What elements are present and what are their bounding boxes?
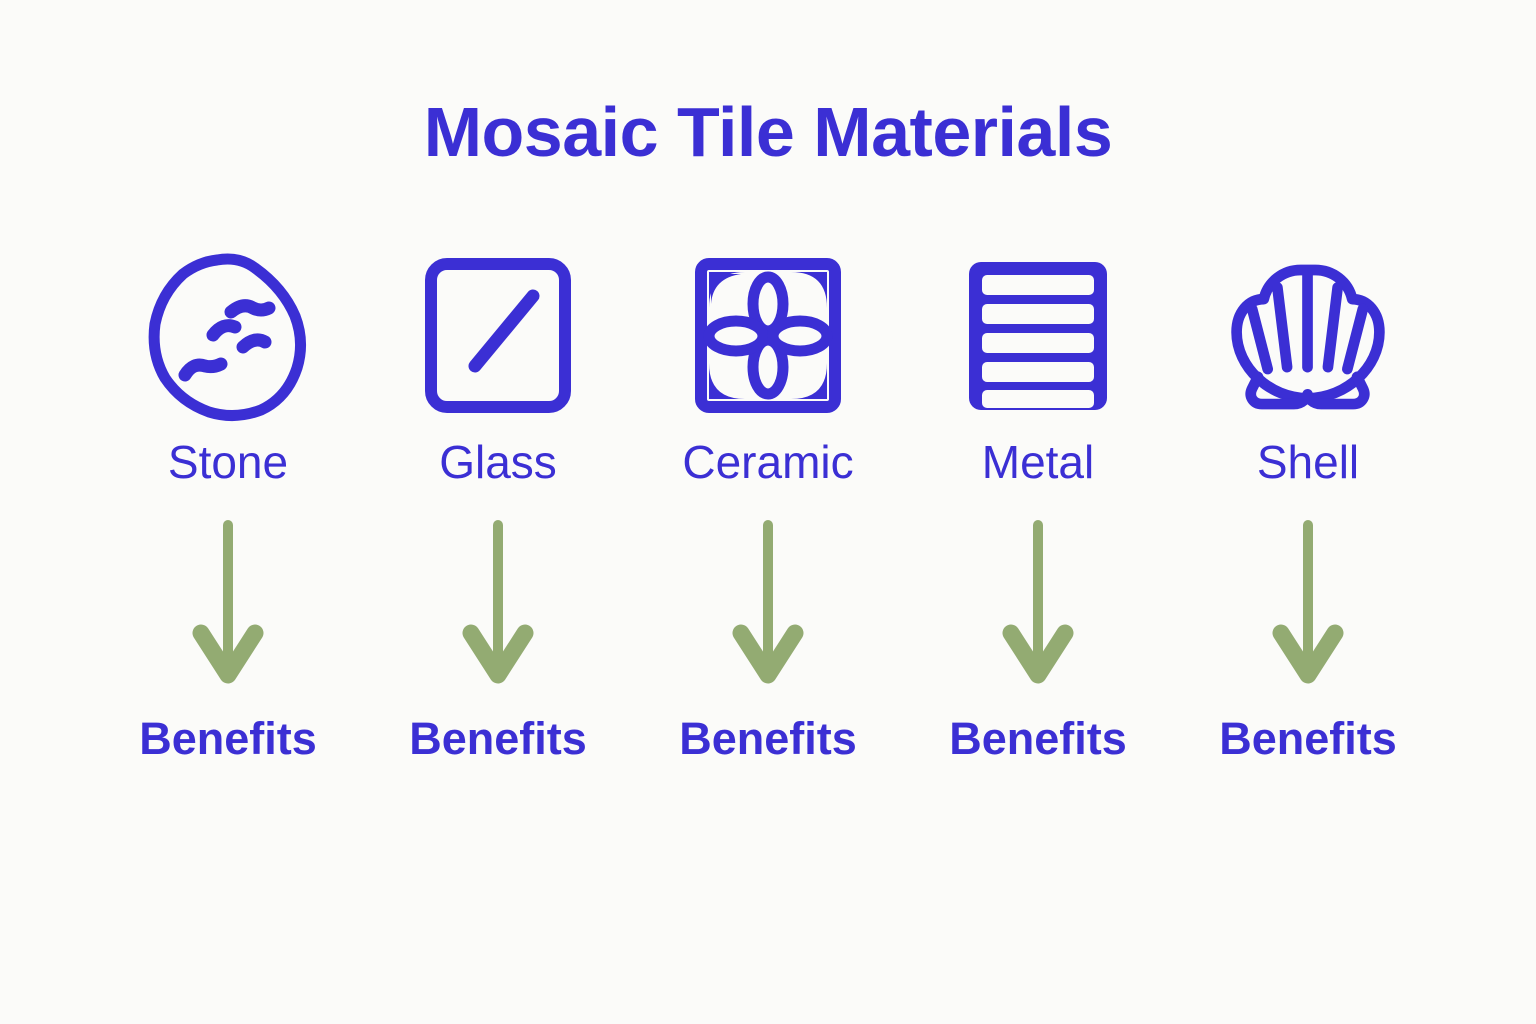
- down-arrow-metal: [998, 515, 1078, 690]
- material-label-glass: Glass: [439, 439, 557, 485]
- benefits-label-glass: Benefits: [409, 716, 587, 761]
- material-column-metal: Metal Benefits: [903, 250, 1173, 761]
- benefits-label-stone: Benefits: [139, 716, 317, 761]
- material-column-glass: Glass Benefits: [363, 250, 633, 761]
- down-arrow-ceramic: [728, 515, 808, 690]
- material-label-ceramic: Ceramic: [682, 439, 853, 485]
- benefits-label-ceramic: Benefits: [679, 716, 857, 761]
- metal-icon: [953, 250, 1123, 425]
- glass-icon: [413, 250, 583, 425]
- material-column-shell: Shell Benefits: [1173, 250, 1443, 761]
- benefits-label-metal: Benefits: [949, 716, 1127, 761]
- ceramic-icon: [683, 250, 853, 425]
- benefits-label-shell: Benefits: [1219, 716, 1397, 761]
- material-label-stone: Stone: [168, 439, 288, 485]
- page-title: Mosaic Tile Materials: [0, 92, 1536, 172]
- shell-icon: [1223, 250, 1393, 425]
- stone-icon: [143, 250, 313, 425]
- materials-row: Stone Benefits Glass Benefits: [93, 250, 1443, 761]
- material-column-ceramic: Ceramic Benefits: [633, 250, 903, 761]
- material-column-stone: Stone Benefits: [93, 250, 363, 761]
- material-label-shell: Shell: [1257, 439, 1359, 485]
- down-arrow-shell: [1268, 515, 1348, 690]
- down-arrow-stone: [188, 515, 268, 690]
- material-label-metal: Metal: [982, 439, 1094, 485]
- down-arrow-glass: [458, 515, 538, 690]
